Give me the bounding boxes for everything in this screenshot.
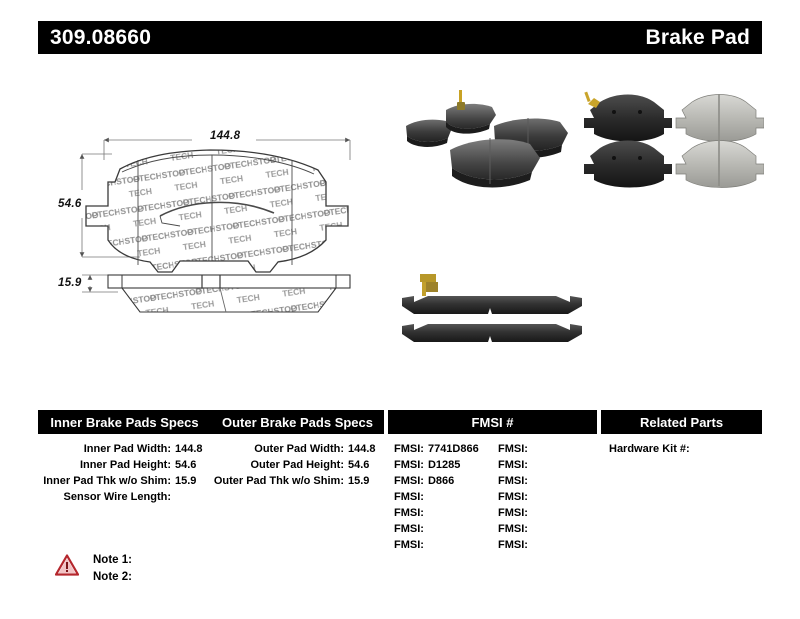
fmsi-label: FMSI: xyxy=(394,523,424,535)
fmsi-label: FMSI: xyxy=(394,491,424,503)
edge-view-pads-photo xyxy=(392,266,592,364)
table-row: Outer Pad Width: 144.8 xyxy=(211,441,384,457)
table-row: FMSI: xyxy=(394,537,492,553)
table-header-inner-specs: Inner Brake Pads Specs xyxy=(38,415,211,430)
spec-label: Outer Pad Height: xyxy=(211,457,348,473)
note-lines: Note 1: Note 2: xyxy=(93,552,132,586)
table-row: Inner Pad Width: 144.8 xyxy=(38,441,211,457)
fmsi-label: FMSI: xyxy=(394,475,424,487)
spec-label: Inner Pad Width: xyxy=(38,441,175,457)
spec-value: 54.6 xyxy=(175,457,211,473)
fmsi-label: FMSI: xyxy=(498,443,528,455)
spec-value xyxy=(175,489,211,505)
table-row: Hardware Kit #: xyxy=(601,441,762,457)
table-header-row: Inner Brake Pads Specs Outer Brake Pads … xyxy=(38,410,762,434)
top-down-pads-photo xyxy=(578,84,764,196)
spec-label: Inner Pad Thk w/o Shim: xyxy=(38,473,175,489)
pad-photo-item xyxy=(676,94,764,142)
spec-label: Sensor Wire Length: xyxy=(38,489,175,505)
table-row: FMSI: xyxy=(498,537,596,553)
table-row: FMSI: xyxy=(394,521,492,537)
table-row: FMSI: xyxy=(394,505,492,521)
part-number: 309.08660 xyxy=(50,26,151,50)
spec-value: 54.6 xyxy=(348,457,384,473)
table-row: FMSI: xyxy=(498,473,596,489)
fmsi-label: FMSI: xyxy=(394,539,424,551)
table-row: Outer Pad Height: 54.6 xyxy=(211,457,384,473)
fmsi-label: FMSI: xyxy=(498,523,528,535)
pad-face-outline xyxy=(86,150,348,272)
related-parts-column: Hardware Kit #: xyxy=(601,441,762,553)
thickness-dimension-label: 15.9 xyxy=(58,277,82,289)
pad-side-view xyxy=(108,275,350,312)
spec-value: 15.9 xyxy=(175,473,211,489)
table-row: FMSI: xyxy=(498,489,596,505)
pad-photo-item xyxy=(584,92,672,142)
table-row: FMSI:D1285 xyxy=(394,457,492,473)
fmsi-label: FMSI: xyxy=(498,475,528,487)
table-row: FMSI: xyxy=(498,457,596,473)
fmsi-columns: FMSI:7741D866 FMSI:D1285 FMSI:D866 FMSI:… xyxy=(388,441,597,553)
fmsi-label: FMSI: xyxy=(394,459,424,471)
notes-section: Note 1: Note 2: xyxy=(55,552,132,586)
fmsi-label: FMSI: xyxy=(498,539,528,551)
pad-photo-item xyxy=(676,140,764,188)
table-row: FMSI: xyxy=(498,441,596,457)
table-row: FMSI: xyxy=(498,505,596,521)
fmsi-label: FMSI: xyxy=(394,443,424,455)
spec-label: Outer Pad Thk w/o Shim: xyxy=(211,473,348,489)
table-header-fmsi: FMSI # xyxy=(388,410,597,434)
table-row: FMSI:7741D866 xyxy=(394,441,492,457)
pad-photo-item xyxy=(406,120,452,147)
table-row: Inner Pad Height: 54.6 xyxy=(38,457,211,473)
pad-photo-item xyxy=(584,141,672,188)
spec-sheet-page: 309.08660 Brake Pad STOP TECH TECH xyxy=(0,0,800,619)
table-row: Sensor Wire Length: xyxy=(38,489,211,505)
note-2: Note 2: xyxy=(93,569,132,586)
inner-specs-column: Inner Pad Width: 144.8 Inner Pad Height:… xyxy=(38,441,211,553)
table-body: Inner Pad Width: 144.8 Inner Pad Height:… xyxy=(38,441,762,553)
fmsi-value: D1285 xyxy=(428,459,460,471)
spec-label: Outer Pad Width: xyxy=(211,441,348,457)
technical-drawing: STOP TECH TECH xyxy=(60,120,390,350)
fmsi-label: FMSI: xyxy=(498,491,528,503)
table-row: FMSI: xyxy=(498,521,596,537)
fmsi-label: FMSI: xyxy=(498,459,528,471)
table-row: FMSI: xyxy=(394,489,492,505)
table-header-specs-group: Inner Brake Pads Specs Outer Brake Pads … xyxy=(38,410,384,434)
width-dimension-label: 144.8 xyxy=(210,130,240,142)
table-row: Outer Pad Thk w/o Shim: 15.9 xyxy=(211,473,384,489)
spec-value: 144.8 xyxy=(175,441,211,457)
table-row: FMSI:D866 xyxy=(394,473,492,489)
specs-columns: Inner Pad Width: 144.8 Inner Pad Height:… xyxy=(38,441,384,553)
height-dimension-label: 54.6 xyxy=(58,198,82,210)
fmsi-value: 7741D866 xyxy=(428,443,479,455)
spec-value: 15.9 xyxy=(348,473,384,489)
pad-photo-item xyxy=(446,90,496,134)
table-header-outer-specs: Outer Brake Pads Specs xyxy=(211,415,384,430)
note-1: Note 1: xyxy=(93,552,132,569)
spec-value: 144.8 xyxy=(348,441,384,457)
page-title: Brake Pad xyxy=(645,26,750,50)
table-row: Inner Pad Thk w/o Shim: 15.9 xyxy=(38,473,211,489)
warning-triangle-icon xyxy=(55,554,79,576)
fmsi-label: FMSI: xyxy=(498,507,528,519)
brake-pad-outline-svg: STOP TECH TECH xyxy=(60,120,390,350)
spec-label: Inner Pad Height: xyxy=(38,457,175,473)
header-bar: 309.08660 Brake Pad xyxy=(38,21,762,54)
outer-specs-column: Outer Pad Width: 144.8 Outer Pad Height:… xyxy=(211,441,384,553)
fmsi-label: FMSI: xyxy=(394,507,424,519)
hardware-kit-label: Hardware Kit #: xyxy=(609,443,690,455)
pad-photo-item xyxy=(450,138,540,187)
specs-table: Inner Brake Pads Specs Outer Brake Pads … xyxy=(38,410,762,553)
fmsi-right-column: FMSI: FMSI: FMSI: FMSI: FMSI: FMSI: FMSI… xyxy=(492,441,596,553)
fmsi-left-column: FMSI:7741D866 FMSI:D1285 FMSI:D866 FMSI:… xyxy=(388,441,492,553)
angled-four-pads-photo xyxy=(402,88,582,188)
table-header-related-parts: Related Parts xyxy=(601,410,762,434)
pad-photo-item xyxy=(402,324,582,342)
fmsi-value: D866 xyxy=(428,475,454,487)
pad-photo-item xyxy=(402,274,582,314)
